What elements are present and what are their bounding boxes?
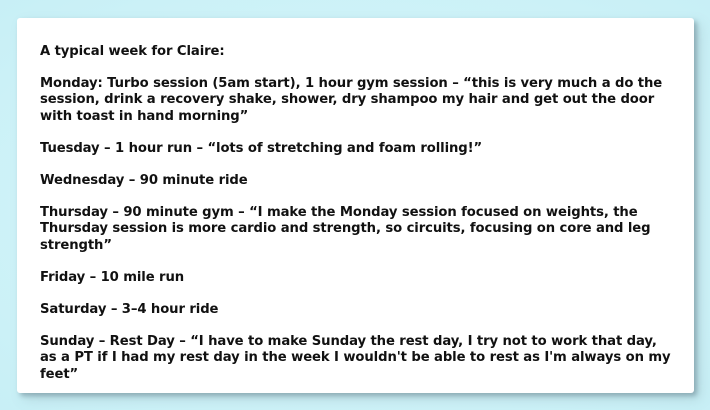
schedule-entry-friday: Friday – 10 mile run xyxy=(40,270,672,286)
document-body: A typical week for Claire: Monday: Turbo… xyxy=(40,44,672,383)
schedule-entry-tuesday: Tuesday – 1 hour run – “lots of stretchi… xyxy=(40,141,672,157)
schedule-entry-thursday: Thursday – 90 minute gym – “I make the M… xyxy=(40,205,672,254)
schedule-entry-sunday: Sunday – Rest Day – “I have to make Sund… xyxy=(40,334,672,383)
schedule-entry-wednesday: Wednesday – 90 minute ride xyxy=(40,173,672,189)
schedule-entry-monday: Monday: Turbo session (5am start), 1 hou… xyxy=(40,76,672,125)
document-heading: A typical week for Claire: xyxy=(40,44,672,60)
document-card: A typical week for Claire: Monday: Turbo… xyxy=(17,18,694,393)
schedule-entry-saturday: Saturday – 3–4 hour ride xyxy=(40,302,672,318)
